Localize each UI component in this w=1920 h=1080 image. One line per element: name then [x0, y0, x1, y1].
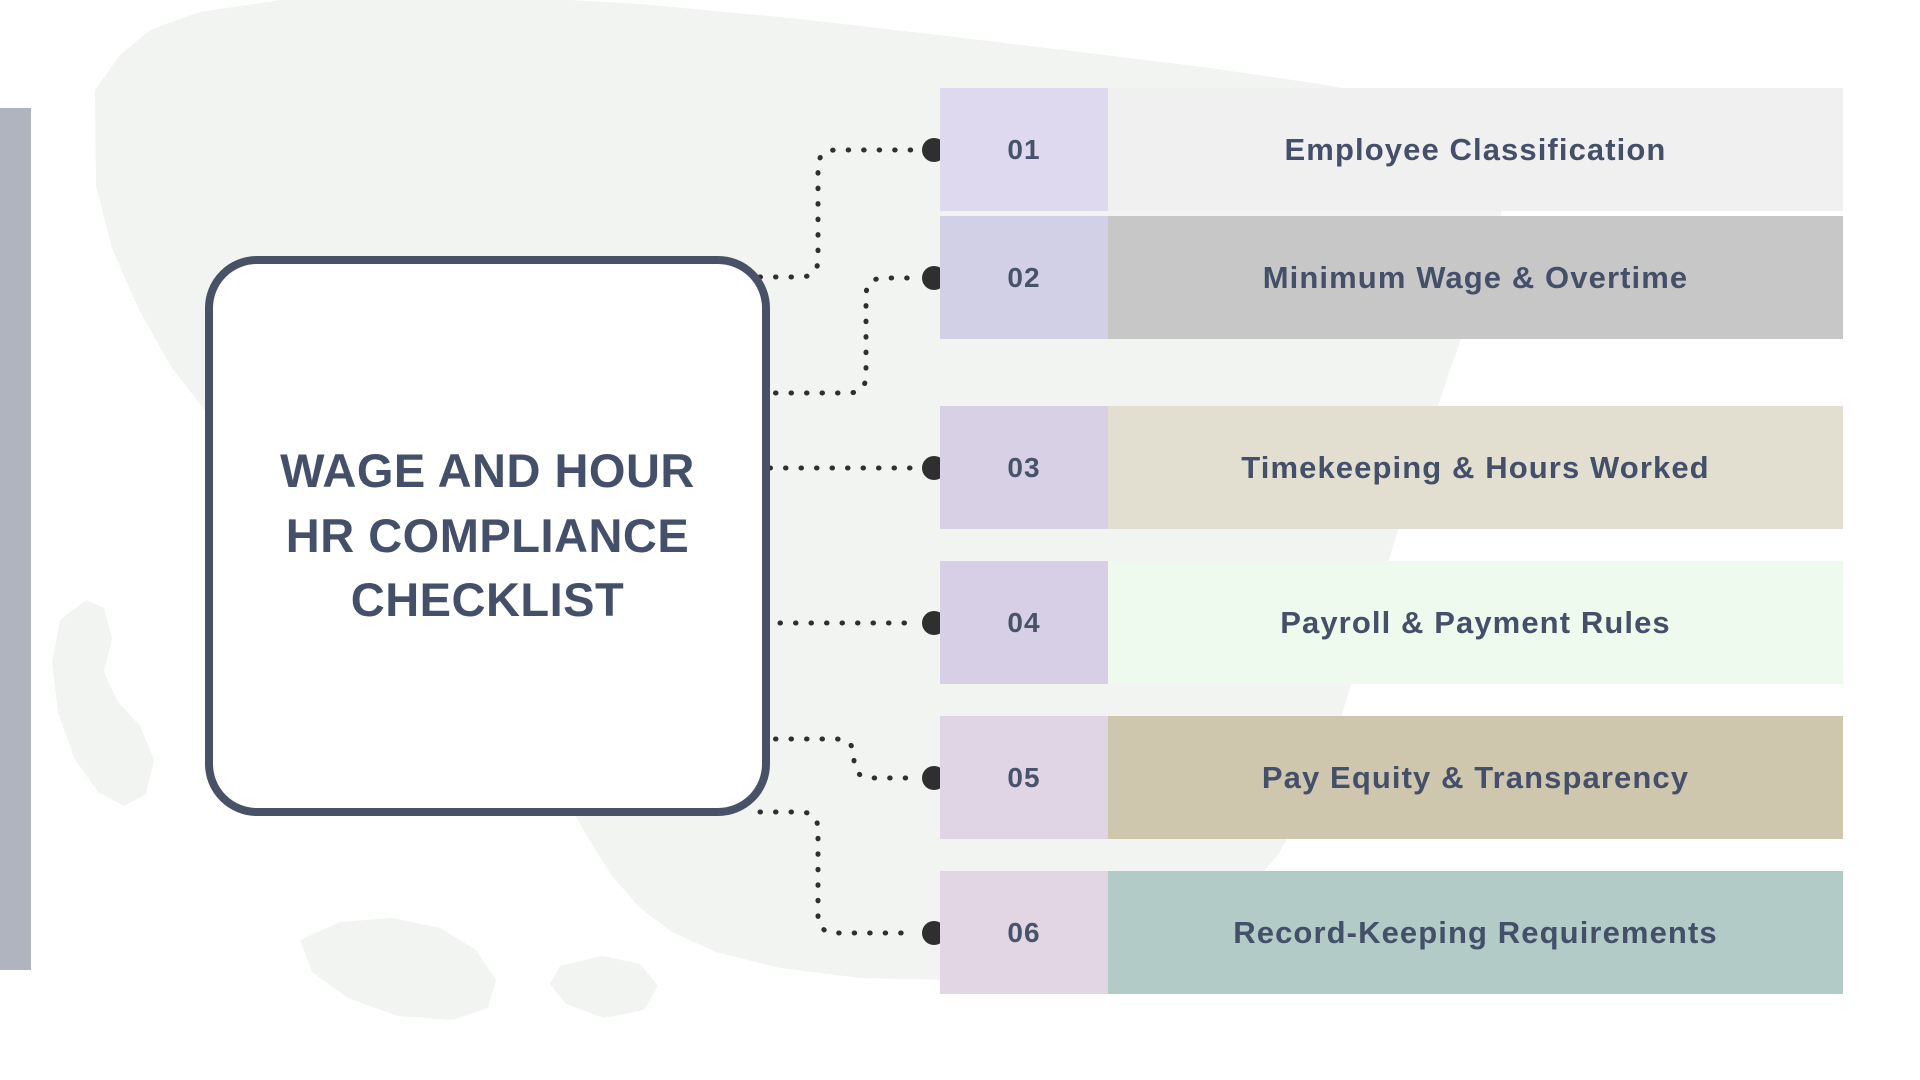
connector-path-01 [760, 150, 916, 277]
connector-path-05 [760, 739, 916, 778]
title-card: WAGE AND HOUR HR COMPLIANCE CHECKLIST [205, 256, 770, 816]
connector-path-06 [760, 812, 916, 933]
checklist-row[interactable]: 04 Payroll & Payment Rules [940, 561, 1843, 684]
row-label: Minimum Wage & Overtime [1108, 216, 1843, 339]
checklist-row[interactable]: 01 Employee Classification [940, 88, 1843, 211]
page-title: WAGE AND HOUR HR COMPLIANCE CHECKLIST [254, 439, 721, 634]
left-accent-bar [0, 108, 31, 970]
row-number-badge: 06 [940, 871, 1108, 994]
checklist-row[interactable]: 05 Pay Equity & Transparency [940, 716, 1843, 839]
row-label: Timekeeping & Hours Worked [1108, 406, 1843, 529]
row-number-badge: 04 [940, 561, 1108, 684]
row-label: Payroll & Payment Rules [1108, 561, 1843, 684]
row-label: Pay Equity & Transparency [1108, 716, 1843, 839]
checklist-row[interactable]: 02 Minimum Wage & Overtime [940, 216, 1843, 339]
infographic-canvas: WAGE AND HOUR HR COMPLIANCE CHECKLIST 01… [0, 0, 1920, 1080]
checklist-row[interactable]: 03 Timekeeping & Hours Worked [940, 406, 1843, 529]
row-number-badge: 03 [940, 406, 1108, 529]
row-number-badge: 01 [940, 88, 1108, 211]
row-label: Employee Classification [1108, 88, 1843, 211]
checklist-row[interactable]: 06 Record-Keeping Requirements [940, 871, 1843, 994]
row-label: Record-Keeping Requirements [1108, 871, 1843, 994]
row-number-badge: 05 [940, 716, 1108, 839]
row-number-badge: 02 [940, 216, 1108, 339]
connector-path-02 [760, 278, 916, 393]
